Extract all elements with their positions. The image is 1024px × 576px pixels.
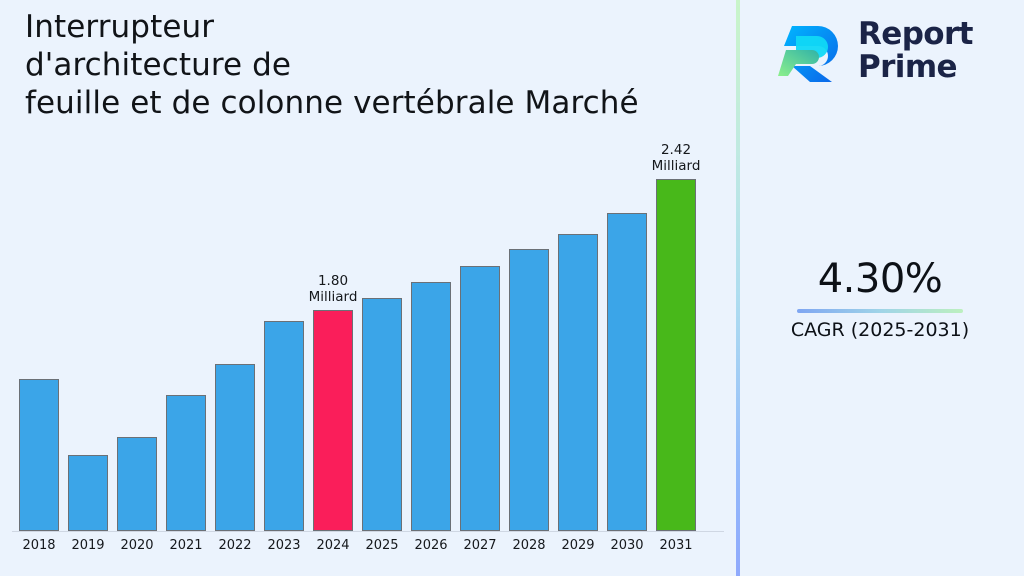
x-tick-2025: 2025: [357, 538, 407, 553]
bar-2026: [411, 282, 451, 531]
value-label-2024: 1.80 Milliard: [285, 273, 381, 305]
x-tick-2026: 2026: [406, 538, 456, 553]
x-tick-2022: 2022: [210, 538, 260, 553]
x-tick-2020: 2020: [112, 538, 162, 553]
bar-2028: [509, 249, 549, 531]
bar-2021: [166, 395, 206, 531]
bar-2030: [607, 213, 647, 531]
bar-2022: [215, 364, 255, 531]
bar-2027: [460, 266, 500, 531]
value-label-2031: 2.42 Milliard: [628, 142, 724, 174]
bar-chart: 1.80 Milliard2.42 Milliard 2018201920202…: [0, 0, 736, 576]
bar-2029: [558, 234, 598, 531]
cagr-caption: CAGR (2025-2031): [736, 317, 1024, 343]
x-tick-2023: 2023: [259, 538, 309, 553]
x-tick-2019: 2019: [63, 538, 113, 553]
brand-logo: Report Prime: [776, 14, 1006, 90]
bar-2019: [68, 455, 108, 531]
x-tick-2027: 2027: [455, 538, 505, 553]
cagr-divider: [797, 309, 963, 313]
x-tick-2018: 2018: [14, 538, 64, 553]
bar-2023: [264, 321, 304, 531]
cagr-value: 4.30%: [736, 255, 1024, 303]
bar-2018: [19, 379, 59, 531]
bar-2031: [656, 179, 696, 531]
x-tick-2030: 2030: [602, 538, 652, 553]
x-tick-2028: 2028: [504, 538, 554, 553]
brand-name: Report Prime: [858, 18, 973, 84]
x-axis-line: [12, 531, 724, 532]
x-tick-2031: 2031: [651, 538, 701, 553]
bar-2024: [313, 310, 353, 531]
x-tick-2024: 2024: [308, 538, 358, 553]
bar-2020: [117, 437, 157, 531]
x-tick-2021: 2021: [161, 538, 211, 553]
report-prime-r-mark-icon: [776, 16, 848, 88]
x-tick-2029: 2029: [553, 538, 603, 553]
cagr-block: 4.30% CAGR (2025-2031): [736, 255, 1024, 343]
bar-2025: [362, 298, 402, 531]
